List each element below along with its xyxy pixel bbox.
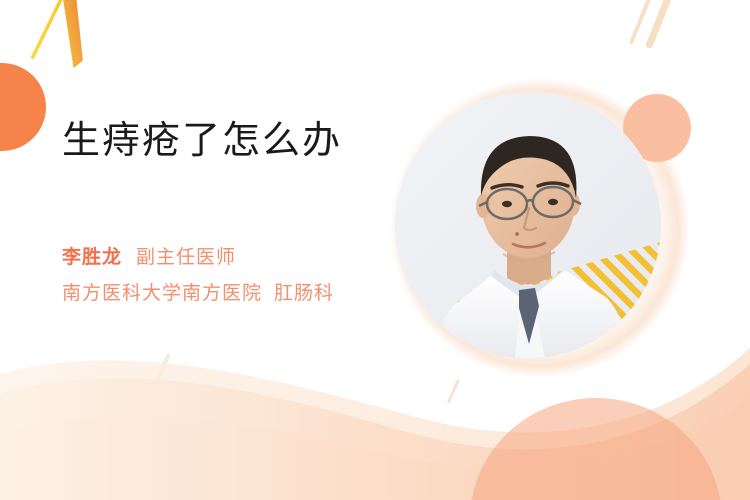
page-title: 生痔疮了怎么办 (62, 118, 342, 166)
doctor-professional-title: 副主任医师 (136, 247, 236, 268)
doctor-name: 李胜龙 (62, 247, 122, 268)
doctor-name-row: 李胜龙副主任医师 (62, 248, 334, 267)
doctor-intro-card: 生痔疮了怎么办 李胜龙副主任医师 南方医科大学南方医院肛肠科 (0, 0, 750, 500)
doctor-credentials: 李胜龙副主任医师 南方医科大学南方医院肛肠科 (62, 248, 334, 303)
doctor-hospital: 南方医科大学南方医院 (62, 283, 262, 304)
doctor-affiliation-row: 南方医科大学南方医院肛肠科 (62, 284, 334, 303)
doctor-department: 肛肠科 (274, 283, 334, 304)
